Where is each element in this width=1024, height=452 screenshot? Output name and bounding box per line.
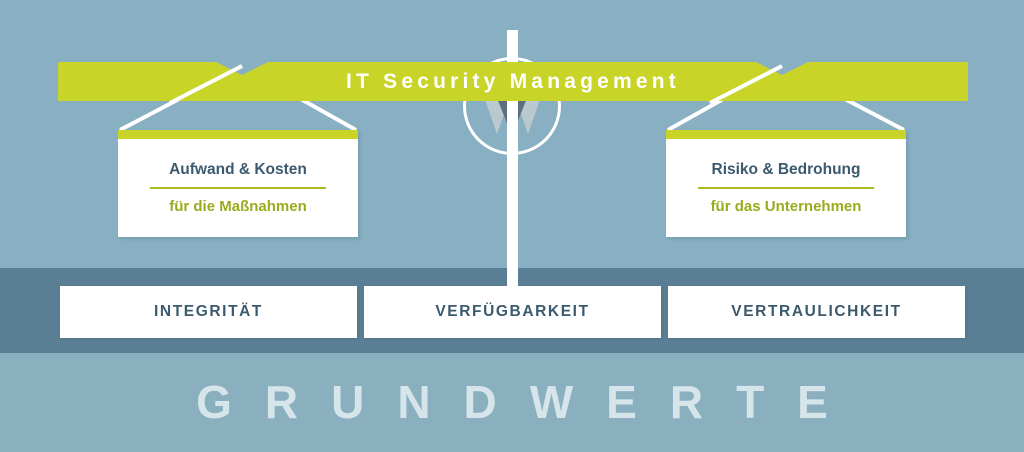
- pan-card-right-accent-bar: [666, 130, 906, 139]
- pan-card-right-body: Risiko & Bedrohung für das Unternehmen: [666, 139, 906, 237]
- pan-card-right-subtext: für das Unternehmen: [711, 189, 862, 215]
- foundation-label: GRUNDWERTE: [0, 353, 1024, 452]
- pan-card-left-accent-bar: [118, 130, 358, 139]
- core-value-label-integritaet: INTEGRITÄT: [154, 303, 263, 321]
- beam-title: IT Security Management: [58, 62, 968, 101]
- pan-card-left-subtext: für die Maßnahmen: [169, 189, 307, 215]
- it-security-balance-diagram: GRUNDWERTE IT Security Management Aufwan…: [0, 0, 1024, 452]
- core-value-box-vertraulichkeit: VERTRAULICHKEIT: [668, 286, 965, 338]
- pan-card-right-heading: Risiko & Bedrohung: [712, 161, 861, 187]
- core-value-box-integritaet: INTEGRITÄT: [60, 286, 357, 338]
- pan-card-right: Risiko & Bedrohung für das Unternehmen: [666, 130, 906, 237]
- core-value-label-vertraulichkeit: VERTRAULICHKEIT: [731, 303, 901, 321]
- pan-card-left: Aufwand & Kosten für die Maßnahmen: [118, 130, 358, 237]
- pan-card-left-heading: Aufwand & Kosten: [169, 161, 307, 187]
- core-value-box-verfuegbarkeit: VERFÜGBARKEIT: [364, 286, 661, 338]
- pan-card-left-body: Aufwand & Kosten für die Maßnahmen: [118, 139, 358, 237]
- core-value-label-verfuegbarkeit: VERFÜGBARKEIT: [435, 303, 589, 321]
